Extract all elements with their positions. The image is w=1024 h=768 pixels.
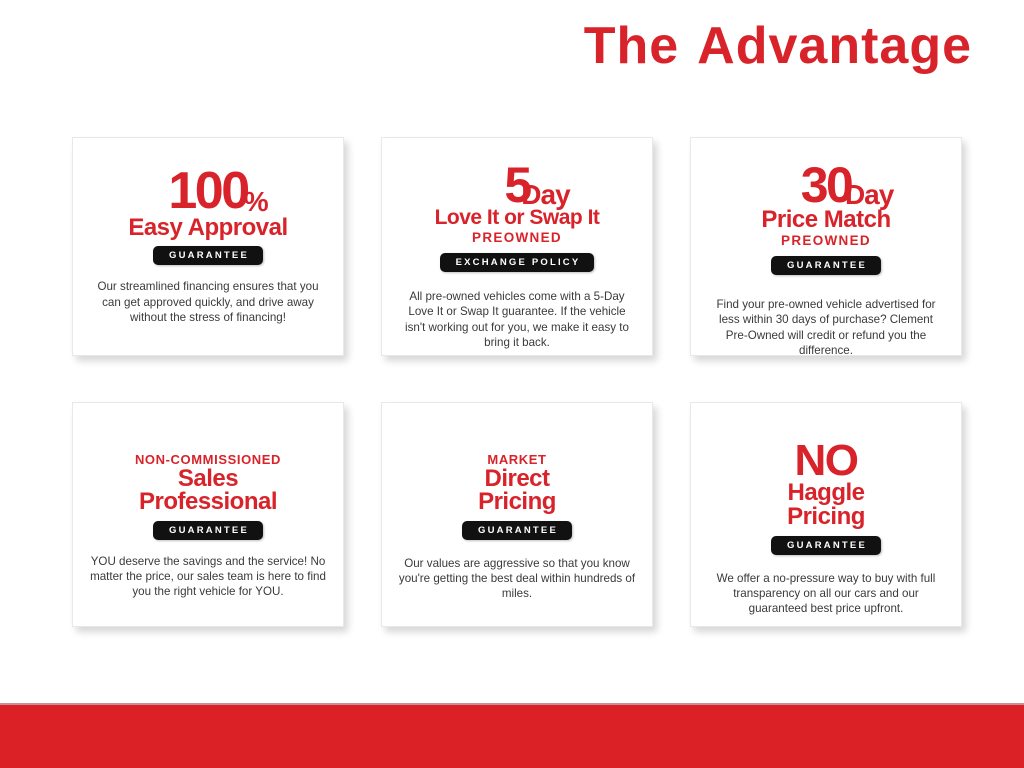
card-body-love-it-or-swap-it: All pre-owned vehicles come with a 5-Day… [394,289,640,351]
page-title-word-advantage: Advantage [697,17,972,75]
headline-word-day: Day [845,181,893,209]
headline-professional: Professional [139,490,277,514]
headline-pricing: Pricing [787,505,865,529]
advantage-page: TheAdvantage 100 % Easy Approval GUARANT… [0,0,1024,768]
page-title-word-the: The [584,17,679,75]
card-body-price-match: Find your pre-owned vehicle advertised f… [703,297,949,356]
headline-word-day: Day [521,181,569,209]
benefit-card-easy-approval[interactable]: 100 % Easy Approval GUARANTEE Our stream… [72,137,344,356]
headline-combo-100-percent: 100 % [168,168,247,216]
card-headline-non-commissioned-sales: NON-COMMISSIONED Sales Professional GUAR… [85,415,331,540]
card-body-no-haggle-pricing: We offer a no-pressure way to buy with f… [703,571,949,617]
headline-sub-preowned: PREOWNED [781,233,871,249]
benefit-card-price-match[interactable]: 30 Day Price Match PREOWNED GUARANTEE Fi… [690,137,962,356]
benefit-card-non-commissioned-sales[interactable]: NON-COMMISSIONED Sales Professional GUAR… [72,402,344,627]
headline-combo-30-day: 30 Day [801,162,852,208]
benefits-card-grid: 100 % Easy Approval GUARANTEE Our stream… [72,137,962,627]
card-body-non-commissioned-sales: YOU deserve the savings and the service!… [85,554,331,600]
headline-word-no: NO [795,441,858,481]
card-headline-market-direct-pricing: MARKET Direct Pricing GUARANTEE [394,415,640,540]
benefit-card-no-haggle-pricing[interactable]: NO Haggle Pricing GUARANTEE We offer a n… [690,402,962,627]
badge-guarantee-market-direct-pricing: GUARANTEE [462,521,572,540]
card-body-easy-approval: Our streamlined financing ensures that y… [85,279,331,325]
badge-guarantee-price-match: GUARANTEE [771,256,881,275]
card-headline-price-match: 30 Day Price Match PREOWNED GUARANTEE [703,150,949,275]
headline-percent-symbol: % [244,188,268,216]
footer-red-bar [0,703,1024,768]
card-headline-no-haggle-pricing: NO Haggle Pricing GUARANTEE [703,415,949,555]
headline-direct: Direct [484,467,549,491]
benefit-card-love-it-or-swap-it[interactable]: 5 Day Love It or Swap It PREOWNED EXCHAN… [381,137,653,356]
headline-sales: Sales [178,467,238,491]
card-body-market-direct-pricing: Our values are aggressive so that you kn… [394,556,640,602]
headline-sub-preowned: PREOWNED [472,230,562,246]
headline-pricing: Pricing [478,490,556,514]
headline-combo-5-day: 5 Day [504,162,529,208]
badge-guarantee-non-commissioned-sales: GUARANTEE [153,521,263,540]
headline-combo-no: NO [795,441,858,481]
badge-guarantee-easy-approval: GUARANTEE [153,246,263,265]
card-headline-love-it-or-swap-it: 5 Day Love It or Swap It PREOWNED EXCHAN… [394,150,640,272]
card-headline-easy-approval: 100 % Easy Approval GUARANTEE [85,150,331,265]
headline-number-30: 30 [801,162,852,208]
headline-number-100: 100 [168,168,247,216]
benefit-card-market-direct-pricing[interactable]: MARKET Direct Pricing GUARANTEE Our valu… [381,402,653,627]
badge-exchange-policy: EXCHANGE POLICY [440,253,595,272]
badge-guarantee-no-haggle-pricing: GUARANTEE [771,536,881,555]
page-title: TheAdvantage [584,18,972,75]
